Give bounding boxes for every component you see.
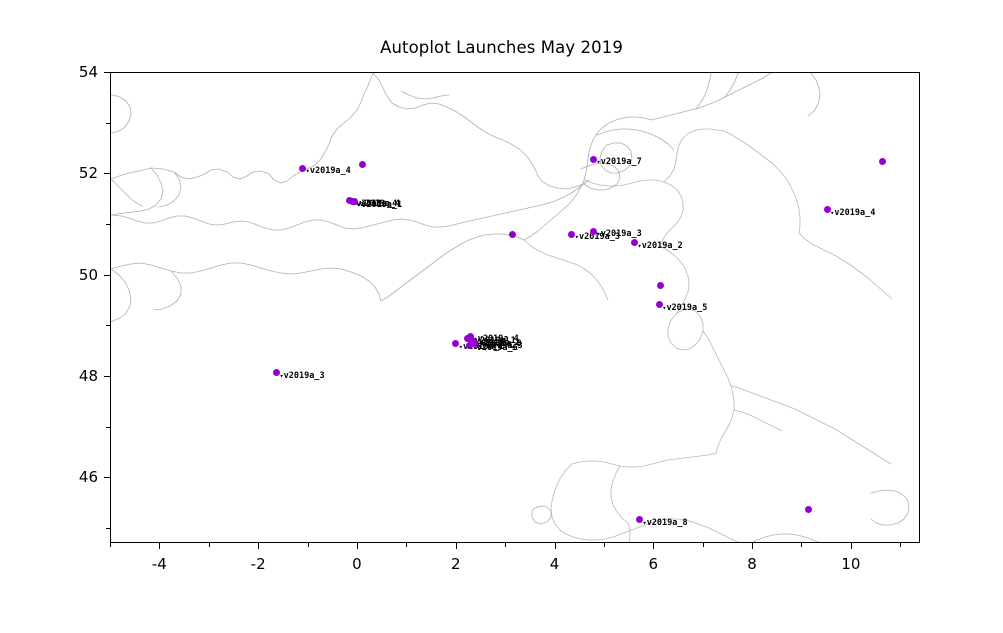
plot-axes[interactable]: v2019a_4v2019a_4v2019a_4v2019a_1v2019a_7… <box>110 72 920 543</box>
x-major-tick <box>555 543 556 549</box>
x-tick-label: 0 <box>352 555 362 573</box>
x-minor-tick <box>505 543 506 547</box>
y-major-tick <box>104 275 110 276</box>
scatter-layer: v2019a_4v2019a_4v2019a_4v2019a_1v2019a_7… <box>111 73 920 543</box>
x-major-tick <box>653 543 654 549</box>
y-minor-tick <box>106 224 110 225</box>
scatter-point[interactable] <box>879 158 886 165</box>
x-major-tick <box>159 543 160 549</box>
y-tick-label: 54 <box>0 63 98 81</box>
x-minor-tick <box>406 543 407 547</box>
y-minor-tick <box>106 325 110 326</box>
y-minor-tick <box>106 123 110 124</box>
x-minor-tick <box>801 543 802 547</box>
y-tick-label: 46 <box>0 468 98 486</box>
scatter-point-label: v2019a_5 <box>662 304 707 313</box>
y-tick-label: 52 <box>0 164 98 182</box>
y-major-tick <box>104 477 110 478</box>
scatter-point[interactable] <box>509 231 516 238</box>
scatter-point-label: v2019a_3 <box>597 230 642 239</box>
x-tick-label: 2 <box>451 555 461 573</box>
x-tick-label: -4 <box>152 555 167 573</box>
x-minor-tick <box>209 543 210 547</box>
x-major-tick <box>357 543 358 549</box>
scatter-point-label: v2019a_6 <box>473 344 518 353</box>
y-minor-tick <box>106 528 110 529</box>
x-minor-tick <box>703 543 704 547</box>
x-tick-label: -2 <box>251 555 266 573</box>
y-tick-label: 50 <box>0 266 98 284</box>
y-major-tick <box>104 72 110 73</box>
x-tick-label: 8 <box>747 555 757 573</box>
scatter-point-label: v2019a_2 <box>638 242 683 251</box>
x-minor-tick <box>110 543 111 547</box>
x-tick-label: 6 <box>649 555 659 573</box>
scatter-point[interactable] <box>805 506 812 513</box>
figure-canvas: Autoplot Launches May 2019 <box>0 0 1003 633</box>
x-major-tick <box>258 543 259 549</box>
y-major-tick <box>104 173 110 174</box>
x-minor-tick <box>308 543 309 547</box>
x-minor-tick <box>900 543 901 547</box>
x-tick-label: 10 <box>841 555 860 573</box>
scatter-point-label: v2019a_4 <box>830 209 875 218</box>
y-major-tick <box>104 376 110 377</box>
scatter-point-label: v2019a_8 <box>642 519 687 528</box>
x-major-tick <box>851 543 852 549</box>
x-major-tick <box>456 543 457 549</box>
y-tick-label: 48 <box>0 367 98 385</box>
scatter-point-label: v2019a_7 <box>597 158 642 167</box>
y-minor-tick <box>106 427 110 428</box>
scatter-point[interactable] <box>657 282 664 289</box>
scatter-point-label: v2019a_4 <box>306 167 351 176</box>
chart-title: Autoplot Launches May 2019 <box>0 38 1003 57</box>
scatter-point-label: v2019a_1 <box>357 201 402 210</box>
scatter-point-label: v2019a_3 <box>279 372 324 381</box>
x-tick-label: 4 <box>550 555 560 573</box>
x-minor-tick <box>604 543 605 547</box>
x-major-tick <box>752 543 753 549</box>
scatter-point[interactable] <box>359 161 366 168</box>
